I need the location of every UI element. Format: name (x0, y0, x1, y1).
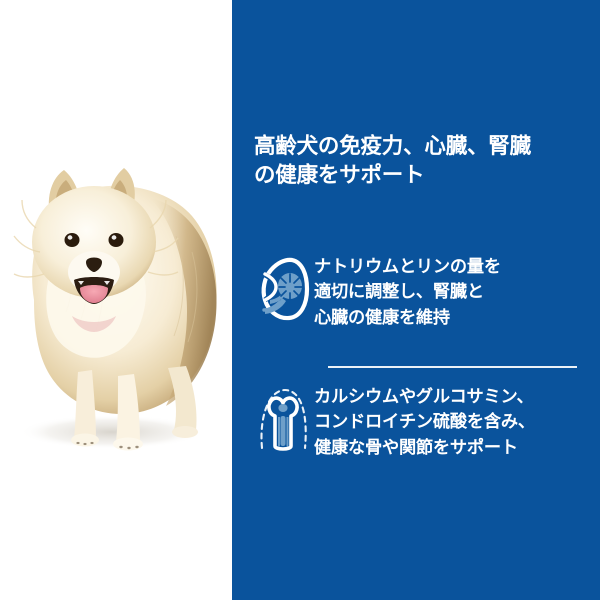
pomeranian-dog-photo (0, 0, 232, 600)
feature-bone-joint-text: カルシウムやグルコサミン、 コンドロイチン硫酸を含み、 健康な骨や関節をサポート (314, 382, 600, 460)
dog-photo-panel (0, 0, 232, 600)
feature-bone-joint: カルシウムやグルコサミン、 コンドロイチン硫酸を含み、 健康な骨や関節をサポート (252, 382, 600, 460)
product-benefit-poster: 高齢犬の免疫力、心臓、腎臓 の健康をサポート (0, 0, 600, 600)
kidney-icon (252, 252, 314, 330)
page-title: 高齢犬の免疫力、心臓、腎臓 の健康をサポート (254, 132, 584, 190)
section-divider (328, 366, 577, 368)
bone-joint-icon (252, 382, 314, 460)
benefits-info-panel: 高齢犬の免疫力、心臓、腎臓 の健康をサポート (232, 0, 600, 600)
feature-kidney: ナトリウムとリンの量を 適切に調整し、腎臓と 心臓の健康を維持 (252, 252, 600, 330)
feature-kidney-text: ナトリウムとリンの量を 適切に調整し、腎臓と 心臓の健康を維持 (314, 252, 600, 330)
